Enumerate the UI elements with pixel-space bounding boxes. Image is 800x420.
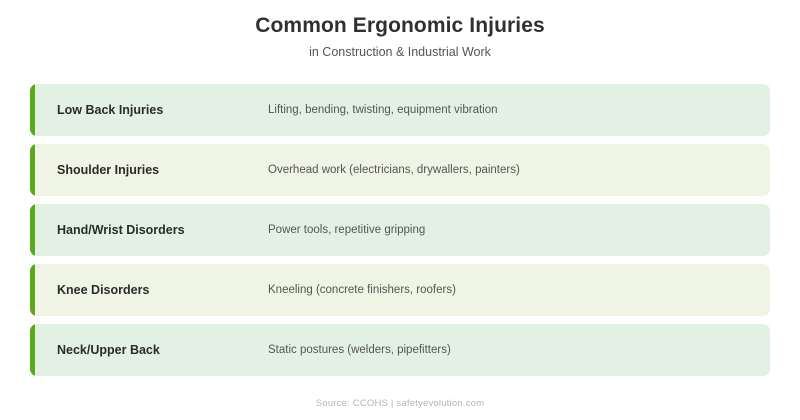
injury-description: Lifting, bending, twisting, equipment vi… xyxy=(268,104,498,116)
injury-label: Low Back Injuries xyxy=(57,103,163,117)
source-caption: Source: CCOHS | safetyevolution.com xyxy=(0,398,800,409)
injury-list: Low Back Injuries Lifting, bending, twis… xyxy=(30,84,770,376)
page-subtitle: in Construction & Industrial Work xyxy=(0,45,800,60)
injury-description: Kneeling (concrete finishers, roofers) xyxy=(268,284,456,296)
accent-bar xyxy=(30,84,35,136)
injury-label: Shoulder Injuries xyxy=(57,163,159,177)
list-item: Low Back Injuries Lifting, bending, twis… xyxy=(30,84,770,136)
injury-description: Overhead work (electricians, drywallers,… xyxy=(268,164,520,176)
page-title: Common Ergonomic Injuries xyxy=(0,14,800,38)
infographic-page: Common Ergonomic Injuries in Constructio… xyxy=(0,0,800,420)
accent-bar xyxy=(30,264,35,316)
list-item: Shoulder Injuries Overhead work (electri… xyxy=(30,144,770,196)
accent-bar xyxy=(30,324,35,376)
accent-bar xyxy=(30,144,35,196)
header: Common Ergonomic Injuries in Constructio… xyxy=(0,0,800,60)
list-item: Knee Disorders Kneeling (concrete finish… xyxy=(30,264,770,316)
injury-label: Neck/Upper Back xyxy=(57,343,160,357)
injury-label: Hand/Wrist Disorders xyxy=(57,223,185,237)
list-item: Neck/Upper Back Static postures (welders… xyxy=(30,324,770,376)
injury-label: Knee Disorders xyxy=(57,283,149,297)
accent-bar xyxy=(30,204,35,256)
list-item: Hand/Wrist Disorders Power tools, repeti… xyxy=(30,204,770,256)
injury-description: Static postures (welders, pipefitters) xyxy=(268,344,451,356)
injury-description: Power tools, repetitive gripping xyxy=(268,224,425,236)
